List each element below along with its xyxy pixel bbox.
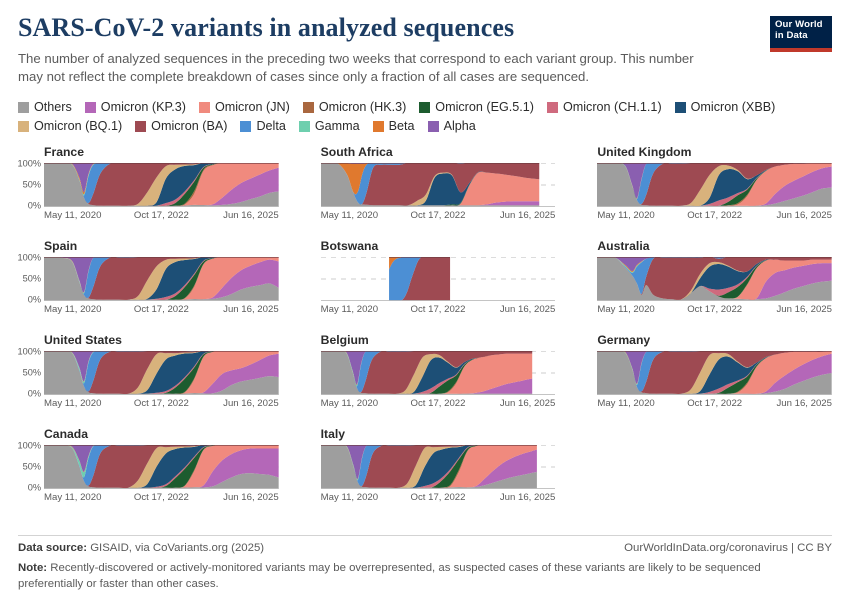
footer-divider xyxy=(18,535,832,536)
plot-area-france: 100%50%0% xyxy=(44,163,279,207)
panel-title-italy: Italy xyxy=(321,428,556,441)
x-tick-label: Jun 16, 2025 xyxy=(500,398,555,409)
legend-item-label: Omicron (BQ.1) xyxy=(34,119,122,133)
legend-swatch-icon xyxy=(675,102,686,113)
x-tick-label: Oct 17, 2022 xyxy=(134,398,189,409)
legend-swatch-icon xyxy=(547,102,558,113)
panel-title-france: France xyxy=(44,146,279,159)
x-tick-label: Jun 16, 2025 xyxy=(500,304,555,315)
x-tick-label: May 11, 2020 xyxy=(321,210,378,221)
legend-swatch-icon xyxy=(85,102,96,113)
x-tick-label: Oct 17, 2022 xyxy=(687,210,742,221)
stacked-area-chart-italy[interactable] xyxy=(321,445,556,489)
chart-footer: Data source: GISAID, via CoVariants.org … xyxy=(18,535,832,592)
x-tick-label: May 11, 2020 xyxy=(321,492,378,503)
legend-item-label: Omicron (JN) xyxy=(215,100,290,114)
legend-item-omicron-hk-3[interactable]: Omicron (HK.3) xyxy=(303,100,406,114)
attribution-link[interactable]: OurWorldInData.org/coronavirus | CC BY xyxy=(624,542,832,554)
note-label: Note: xyxy=(18,562,47,574)
stacked-area-chart-canada[interactable] xyxy=(44,445,279,489)
legend-item-omicron-ba[interactable]: Omicron (BA) xyxy=(135,119,227,133)
legend-item-others[interactable]: Others xyxy=(18,100,72,114)
plot-area-australia xyxy=(597,257,832,301)
stacked-area-chart-botswana[interactable] xyxy=(321,257,556,301)
stacked-area-chart-south-africa[interactable] xyxy=(321,163,556,207)
legend-swatch-icon xyxy=(18,102,29,113)
x-tick-label: Jun 16, 2025 xyxy=(777,398,832,409)
panel-title-botswana: Botswana xyxy=(321,240,556,253)
plot-area-germany xyxy=(597,351,832,395)
panel-italy: ItalyMay 11, 2020Oct 17, 2022Jun 16, 202… xyxy=(295,428,556,522)
legend-item-beta[interactable]: Beta xyxy=(373,119,415,133)
plot-area-italy xyxy=(321,445,556,489)
panel-united-states: United States100%50%0%May 11, 2020Oct 17… xyxy=(18,334,279,428)
x-tick-label: May 11, 2020 xyxy=(597,398,654,409)
plot-area-belgium xyxy=(321,351,556,395)
owid-logo-line2: in Data xyxy=(775,31,827,42)
note-text: Recently-discovered or actively-monitore… xyxy=(18,562,761,590)
panel-title-united-kingdom: United Kingdom xyxy=(597,146,832,159)
x-tick-label: Oct 17, 2022 xyxy=(411,304,466,315)
panel-south-africa: South AfricaMay 11, 2020Oct 17, 2022Jun … xyxy=(295,146,556,240)
panel-canada: Canada100%50%0%May 11, 2020Oct 17, 2022J… xyxy=(18,428,279,522)
y-tick-label: 50% xyxy=(23,462,41,471)
x-tick-label: Jun 16, 2025 xyxy=(223,210,278,221)
data-source-text: GISAID, via CoVariants.org (2025) xyxy=(90,542,264,554)
x-axis-labels: May 11, 2020Oct 17, 2022Jun 16, 2025 xyxy=(321,207,556,223)
legend-item-label: Alpha xyxy=(444,119,476,133)
panel-title-united-states: United States xyxy=(44,334,279,347)
legend-swatch-icon xyxy=(135,121,146,132)
y-tick-label: 100% xyxy=(18,347,42,356)
legend-item-delta[interactable]: Delta xyxy=(240,119,285,133)
chart-header: SARS-CoV-2 variants in analyzed sequence… xyxy=(18,14,832,87)
panel-spain: Spain100%50%0%May 11, 2020Oct 17, 2022Ju… xyxy=(18,240,279,334)
plot-area-south-africa xyxy=(321,163,556,207)
panel-france: France100%50%0%May 11, 2020Oct 17, 2022J… xyxy=(18,146,279,240)
legend-item-omicron-kp-3[interactable]: Omicron (KP.3) xyxy=(85,100,186,114)
legend-item-label: Others xyxy=(34,100,72,114)
stacked-area-chart-spain[interactable] xyxy=(44,257,279,301)
legend-item-label: Omicron (KP.3) xyxy=(101,100,186,114)
plot-area-spain: 100%50%0% xyxy=(44,257,279,301)
chart-subtitle: The number of analyzed sequences in the … xyxy=(18,50,718,87)
x-tick-label: May 11, 2020 xyxy=(44,492,101,503)
x-tick-label: Oct 17, 2022 xyxy=(411,492,466,503)
x-axis-labels: May 11, 2020Oct 17, 2022Jun 16, 2025 xyxy=(597,207,832,223)
panel-united-kingdom: United KingdomMay 11, 2020Oct 17, 2022Ju… xyxy=(571,146,832,240)
y-axis-labels: 100%50%0% xyxy=(17,257,43,301)
x-tick-label: Oct 17, 2022 xyxy=(687,398,742,409)
plot-area-united-kingdom xyxy=(597,163,832,207)
legend-item-label: Omicron (XBB) xyxy=(691,100,776,114)
x-tick-label: Jun 16, 2025 xyxy=(223,398,278,409)
legend-item-label: Gamma xyxy=(315,119,360,133)
panel-germany: GermanyMay 11, 2020Oct 17, 2022Jun 16, 2… xyxy=(571,334,832,428)
y-axis-labels: 100%50%0% xyxy=(17,163,43,207)
legend-swatch-icon xyxy=(373,121,384,132)
x-tick-label: Jun 16, 2025 xyxy=(223,492,278,503)
legend-item-label: Omicron (CH.1.1) xyxy=(563,100,662,114)
x-tick-label: Jun 16, 2025 xyxy=(223,304,278,315)
y-tick-label: 0% xyxy=(28,484,41,493)
x-axis-labels: May 11, 2020Oct 17, 2022Jun 16, 2025 xyxy=(597,395,832,411)
y-tick-label: 50% xyxy=(23,274,41,283)
y-tick-label: 0% xyxy=(28,296,41,305)
x-axis-labels: May 11, 2020Oct 17, 2022Jun 16, 2025 xyxy=(44,301,279,317)
x-tick-label: Jun 16, 2025 xyxy=(777,304,832,315)
x-axis-labels: May 11, 2020Oct 17, 2022Jun 16, 2025 xyxy=(321,489,556,505)
panel-title-australia: Australia xyxy=(597,240,832,253)
x-tick-label: May 11, 2020 xyxy=(321,398,378,409)
legend-item-alpha[interactable]: Alpha xyxy=(428,119,476,133)
plot-area-united-states: 100%50%0% xyxy=(44,351,279,395)
x-tick-label: Oct 17, 2022 xyxy=(134,304,189,315)
legend-swatch-icon xyxy=(428,121,439,132)
x-tick-label: Jun 16, 2025 xyxy=(500,492,555,503)
legend-item-omicron-ch-1-1[interactable]: Omicron (CH.1.1) xyxy=(547,100,662,114)
data-source-label: Data source: xyxy=(18,542,87,554)
legend-item-omicron-jn[interactable]: Omicron (JN) xyxy=(199,100,290,114)
y-tick-label: 50% xyxy=(23,368,41,377)
x-axis-labels: May 11, 2020Oct 17, 2022Jun 16, 2025 xyxy=(597,301,832,317)
panel-botswana: BotswanaMay 11, 2020Oct 17, 2022Jun 16, … xyxy=(295,240,556,334)
legend-swatch-icon xyxy=(240,121,251,132)
x-tick-label: Oct 17, 2022 xyxy=(687,304,742,315)
chart-page: SARS-CoV-2 variants in analyzed sequence… xyxy=(0,0,850,600)
x-axis-labels: May 11, 2020Oct 17, 2022Jun 16, 2025 xyxy=(321,395,556,411)
x-tick-label: May 11, 2020 xyxy=(597,210,654,221)
x-tick-label: Jun 16, 2025 xyxy=(500,210,555,221)
panel-title-south-africa: South Africa xyxy=(321,146,556,159)
legend-item-label: Omicron (EG.5.1) xyxy=(435,100,534,114)
x-tick-label: Oct 17, 2022 xyxy=(411,210,466,221)
stacked-area-chart-germany[interactable] xyxy=(597,351,832,395)
x-tick-label: Oct 17, 2022 xyxy=(134,210,189,221)
x-tick-label: Jun 16, 2025 xyxy=(777,210,832,221)
panel-title-belgium: Belgium xyxy=(321,334,556,347)
legend-swatch-icon xyxy=(199,102,210,113)
x-tick-label: Oct 17, 2022 xyxy=(134,492,189,503)
owid-logo[interactable]: Our World in Data xyxy=(770,16,832,52)
footer-note: Note: Recently-discovered or actively-mo… xyxy=(18,560,808,592)
y-axis-labels: 100%50%0% xyxy=(17,445,43,489)
legend-swatch-icon xyxy=(299,121,310,132)
panel-title-germany: Germany xyxy=(597,334,832,347)
panel-belgium: BelgiumMay 11, 2020Oct 17, 2022Jun 16, 2… xyxy=(295,334,556,428)
plot-area-botswana xyxy=(321,257,556,301)
stacked-area-chart-france[interactable] xyxy=(44,163,279,207)
legend-swatch-icon xyxy=(419,102,430,113)
legend-swatch-icon xyxy=(303,102,314,113)
legend-item-omicron-eg-5-1[interactable]: Omicron (EG.5.1) xyxy=(419,100,534,114)
y-tick-label: 0% xyxy=(28,202,41,211)
chart-legend: OthersOmicron (KP.3)Omicron (JN)Omicron … xyxy=(18,100,832,138)
x-tick-label: May 11, 2020 xyxy=(321,304,378,315)
legend-item-label: Omicron (HK.3) xyxy=(319,100,406,114)
y-axis-labels: 100%50%0% xyxy=(17,351,43,395)
small-multiples-grid: France100%50%0%May 11, 2020Oct 17, 2022J… xyxy=(18,146,832,522)
x-axis-labels: May 11, 2020Oct 17, 2022Jun 16, 2025 xyxy=(44,207,279,223)
legend-item-gamma[interactable]: Gamma xyxy=(299,119,360,133)
x-axis-labels: May 11, 2020Oct 17, 2022Jun 16, 2025 xyxy=(44,395,279,411)
stacked-area-chart-belgium[interactable] xyxy=(321,351,556,395)
legend-item-label: Delta xyxy=(256,119,285,133)
y-tick-label: 100% xyxy=(18,253,42,262)
x-tick-label: May 11, 2020 xyxy=(44,398,101,409)
x-tick-label: May 11, 2020 xyxy=(44,210,101,221)
x-tick-label: Oct 17, 2022 xyxy=(411,398,466,409)
data-source: Data source: GISAID, via CoVariants.org … xyxy=(18,542,264,554)
x-axis-labels: May 11, 2020Oct 17, 2022Jun 16, 2025 xyxy=(321,301,556,317)
y-tick-label: 100% xyxy=(18,441,42,450)
panel-title-spain: Spain xyxy=(44,240,279,253)
x-axis-labels: May 11, 2020Oct 17, 2022Jun 16, 2025 xyxy=(44,489,279,505)
y-tick-label: 50% xyxy=(23,180,41,189)
footer-source-row: Data source: GISAID, via CoVariants.org … xyxy=(18,542,832,554)
y-tick-label: 100% xyxy=(18,159,42,168)
legend-item-omicron-bq-1[interactable]: Omicron (BQ.1) xyxy=(18,119,122,133)
panel-title-canada: Canada xyxy=(44,428,279,441)
legend-item-omicron-xbb[interactable]: Omicron (XBB) xyxy=(675,100,776,114)
stacked-area-chart-united-kingdom[interactable] xyxy=(597,163,832,207)
plot-area-canada: 100%50%0% xyxy=(44,445,279,489)
legend-item-label: Omicron (BA) xyxy=(151,119,227,133)
y-tick-label: 0% xyxy=(28,390,41,399)
panel-australia: AustraliaMay 11, 2020Oct 17, 2022Jun 16,… xyxy=(571,240,832,334)
x-tick-label: May 11, 2020 xyxy=(597,304,654,315)
page-title: SARS-CoV-2 variants in analyzed sequence… xyxy=(18,14,832,43)
legend-item-label: Beta xyxy=(389,119,415,133)
x-tick-label: May 11, 2020 xyxy=(44,304,101,315)
stacked-area-chart-australia[interactable] xyxy=(597,257,832,301)
legend-swatch-icon xyxy=(18,121,29,132)
stacked-area-chart-united-states[interactable] xyxy=(44,351,279,395)
